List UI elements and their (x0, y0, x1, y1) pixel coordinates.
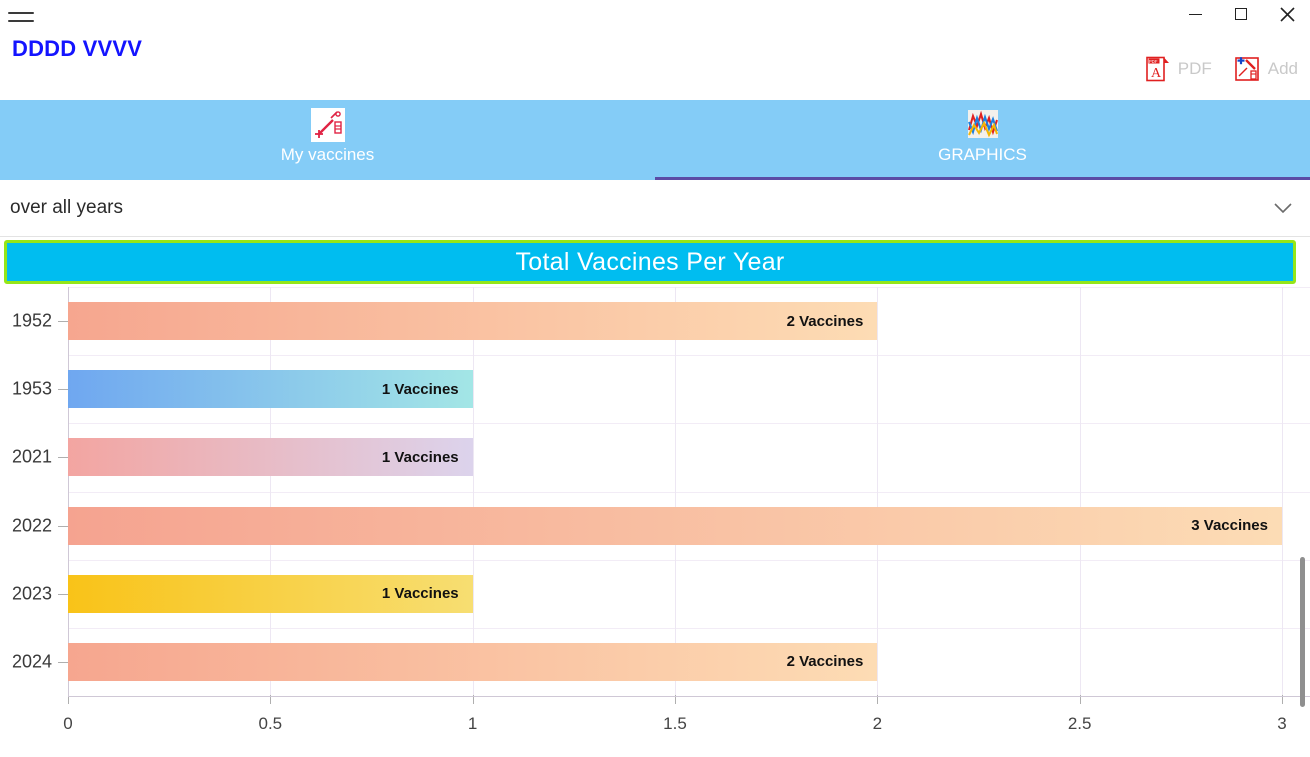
tab-bar: My vaccines GRAPHICS (0, 100, 1310, 180)
page-title: DDDD VVVV (12, 36, 142, 62)
close-button[interactable] (1264, 0, 1310, 28)
bar-2024[interactable]: 2 Vaccines (68, 643, 877, 681)
gridline-horizontal (68, 423, 1310, 424)
bar-value-label: 3 Vaccines (1191, 517, 1282, 534)
window-titlebar: DDDD VVVV PDF A PDF (0, 0, 1310, 100)
svg-text:A: A (1151, 66, 1162, 81)
bar-value-label: 1 Vaccines (382, 585, 473, 602)
scrollbar-thumb[interactable] (1300, 557, 1305, 707)
tab-graphics[interactable]: GRAPHICS (655, 100, 1310, 180)
bar-2023[interactable]: 1 Vaccines (68, 575, 473, 613)
tab-my-vaccines-label: My vaccines (281, 145, 375, 165)
x-axis-label: 2.5 (1068, 714, 1092, 734)
y-axis-label: 2023 (8, 583, 52, 604)
gridline-horizontal (68, 560, 1310, 561)
gridline-vertical (1080, 287, 1081, 696)
y-axis-label: 2024 (8, 651, 52, 672)
minimize-button[interactable] (1172, 0, 1218, 28)
bar-2022[interactable]: 3 Vaccines (68, 507, 1282, 545)
gridline-horizontal (68, 492, 1310, 493)
maximize-icon (1235, 8, 1247, 20)
window-controls (1172, 0, 1310, 28)
close-icon (1280, 7, 1295, 22)
bar-value-label: 2 Vaccines (787, 313, 878, 330)
gridline-vertical (270, 287, 271, 696)
y-axis-tick (58, 321, 68, 322)
bar-value-label: 2 Vaccines (787, 653, 878, 670)
gridline-vertical (473, 287, 474, 696)
chevron-down-icon[interactable] (1274, 202, 1292, 214)
bar-chart-plot: 00.511.522.5319522 Vaccines19531 Vaccine… (0, 287, 1310, 748)
y-axis-line (68, 287, 69, 696)
y-axis-tick (58, 662, 68, 663)
tab-my-vaccines[interactable]: My vaccines (0, 100, 655, 180)
y-axis-label: 1953 (8, 379, 52, 400)
bar-1953[interactable]: 1 Vaccines (68, 370, 473, 408)
y-axis-label: 2022 (8, 515, 52, 536)
pdf-button[interactable]: PDF A PDF (1144, 56, 1212, 82)
chart-title-text: Total Vaccines Per Year (515, 248, 784, 277)
y-axis-label: 1952 (8, 311, 52, 332)
y-axis-tick (58, 457, 68, 458)
gridline-vertical (675, 287, 676, 696)
chart-title-banner: Total Vaccines Per Year (4, 240, 1296, 284)
hamburger-menu-icon[interactable] (8, 4, 36, 30)
year-range-dropdown-value: over all years (10, 197, 123, 219)
x-axis-label: 2 (873, 714, 882, 734)
top-actions: PDF A PDF Add (1144, 56, 1298, 82)
year-range-dropdown[interactable]: over all years (0, 180, 1310, 237)
x-axis-label: 0.5 (259, 714, 283, 734)
x-axis-line (68, 696, 1310, 697)
x-axis-label: 1 (468, 714, 477, 734)
bar-1952[interactable]: 2 Vaccines (68, 302, 877, 340)
tab-graphics-label: GRAPHICS (938, 145, 1027, 165)
gridline-horizontal (68, 628, 1310, 629)
bar-value-label: 1 Vaccines (382, 381, 473, 398)
hamburger-line (8, 12, 34, 14)
bar-2021[interactable]: 1 Vaccines (68, 438, 473, 476)
x-axis-label: 1.5 (663, 714, 687, 734)
syringe-icon (311, 108, 345, 142)
vertical-scrollbar[interactable] (1298, 237, 1308, 748)
maximize-button[interactable] (1218, 0, 1264, 28)
minimize-icon (1189, 14, 1202, 15)
y-axis-tick (58, 594, 68, 595)
gridline-vertical (877, 287, 878, 696)
gridline-horizontal (68, 355, 1310, 356)
add-vaccine-icon (1234, 56, 1260, 82)
y-axis-tick (58, 526, 68, 527)
svg-text:PDF: PDF (1149, 59, 1158, 64)
bar-value-label: 1 Vaccines (382, 449, 473, 466)
add-button[interactable]: Add (1234, 56, 1298, 82)
x-axis-label: 0 (63, 714, 72, 734)
pdf-icon: PDF A (1144, 56, 1170, 82)
hamburger-line (8, 20, 34, 22)
gridline-vertical (1282, 287, 1283, 696)
y-axis-label: 2021 (8, 447, 52, 468)
y-axis-tick (58, 389, 68, 390)
gridline-horizontal (68, 287, 1310, 288)
pdf-button-label: PDF (1178, 59, 1212, 79)
x-axis-label: 3 (1277, 714, 1286, 734)
chart-container: Total Vaccines Per Year 00.511.522.53195… (0, 237, 1310, 748)
add-button-label: Add (1268, 59, 1298, 79)
chart-lines-icon (966, 108, 1000, 142)
